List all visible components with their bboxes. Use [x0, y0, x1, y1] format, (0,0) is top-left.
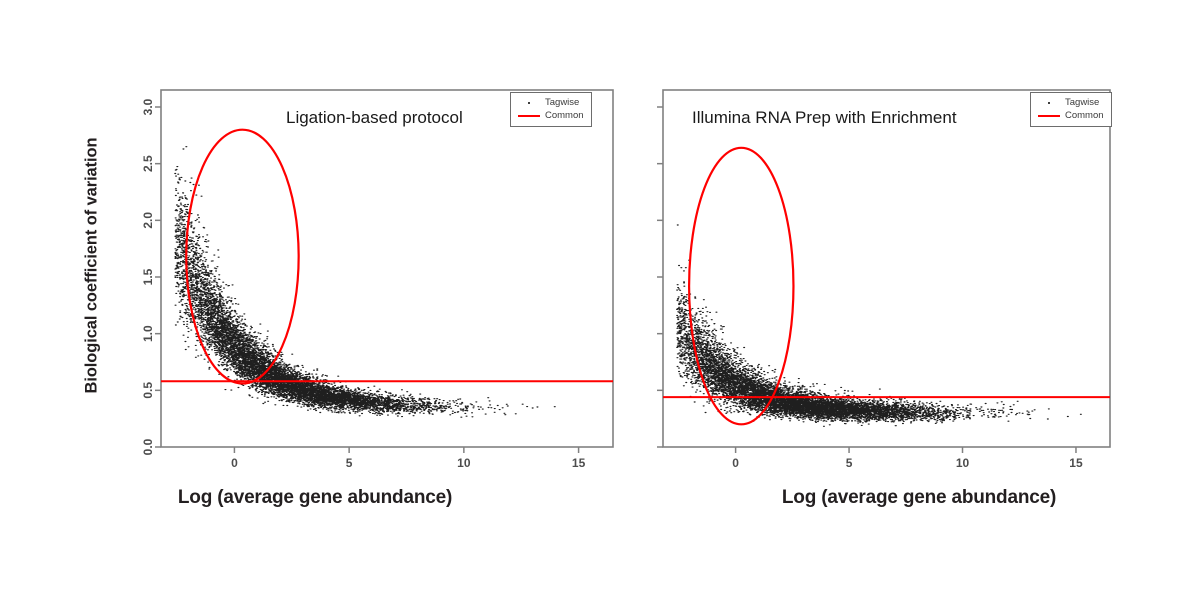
y-tick-label: 3.0 [141, 98, 155, 115]
common-line-icon [1036, 115, 1062, 117]
y-tick-label: 0.0 [141, 438, 155, 455]
x-axis-title: Log (average gene abundance) [0, 487, 620, 509]
bcv-figure: 0510150.00.51.01.52.02.53.0 Biological c… [0, 0, 1200, 600]
x-tick-label: 5 [846, 456, 853, 470]
x-tick-label: 0 [231, 456, 238, 470]
x-tick-label: 15 [572, 456, 586, 470]
x-tick-label: 15 [1069, 456, 1083, 470]
y-tick-label: 1.5 [141, 268, 155, 285]
plot-frame [161, 90, 613, 447]
panel-title-right: Illumina RNA Prep with Enrichment [692, 108, 957, 128]
legend-entry-common: Common [516, 109, 584, 122]
legend-label-tagwise: Tagwise [545, 97, 579, 108]
tagwise-dot-icon [1036, 102, 1062, 104]
y-tick-label: 2.0 [141, 212, 155, 229]
legend-left: Tagwise Common [510, 92, 592, 127]
common-line-icon [516, 115, 542, 117]
legend-label-tagwise: Tagwise [1065, 97, 1099, 108]
legend-entry-tagwise: Tagwise [1036, 96, 1104, 109]
x-axis-title: Log (average gene abundance) [620, 487, 1200, 509]
y-tick-label: 1.0 [141, 325, 155, 342]
legend-right: Tagwise Common [1030, 92, 1112, 127]
panel-illumina-rna-prep-with-enrichment: 051015 Log (average gene abundance) Illu… [620, 0, 1200, 600]
panel-ligation-based-protocol: 0510150.00.51.01.52.02.53.0 Biological c… [0, 0, 620, 600]
x-tick-label: 10 [457, 456, 471, 470]
x-tick-label: 10 [956, 456, 970, 470]
x-tick-label: 5 [346, 456, 353, 470]
tagwise-dot-icon [516, 102, 542, 104]
plot-canvas-right: 051015 [620, 0, 1200, 600]
legend-entry-common: Common [1036, 109, 1104, 122]
y-tick-label: 2.5 [141, 155, 155, 172]
legend-label-common: Common [1065, 110, 1104, 121]
y-axis-title-text: Biological coefficient of variation [83, 137, 102, 393]
y-axis-title: Biological coefficient of variation [78, 90, 106, 440]
legend-entry-tagwise: Tagwise [516, 96, 584, 109]
panel-title-left: Ligation-based protocol [286, 108, 463, 128]
y-tick-label: 0.5 [141, 382, 155, 399]
legend-label-common: Common [545, 110, 584, 121]
x-tick-label: 0 [732, 456, 739, 470]
